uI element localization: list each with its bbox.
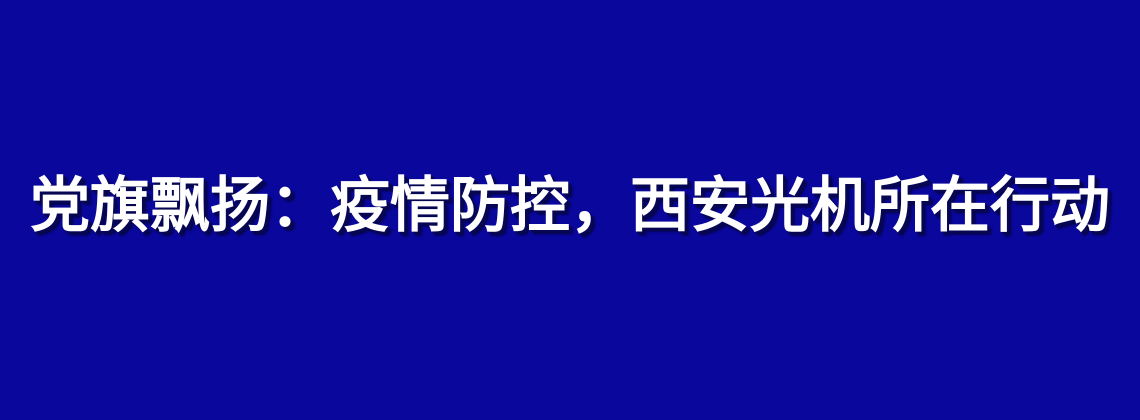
banner-title: 党旗飘扬：疫情防控，西安光机所在行动 [30, 174, 1110, 238]
banner: 党旗飘扬：疫情防控，西安光机所在行动 [0, 0, 1140, 420]
banner-text-block: 党旗飘扬：疫情防控，西安光机所在行动 [0, 134, 1140, 278]
